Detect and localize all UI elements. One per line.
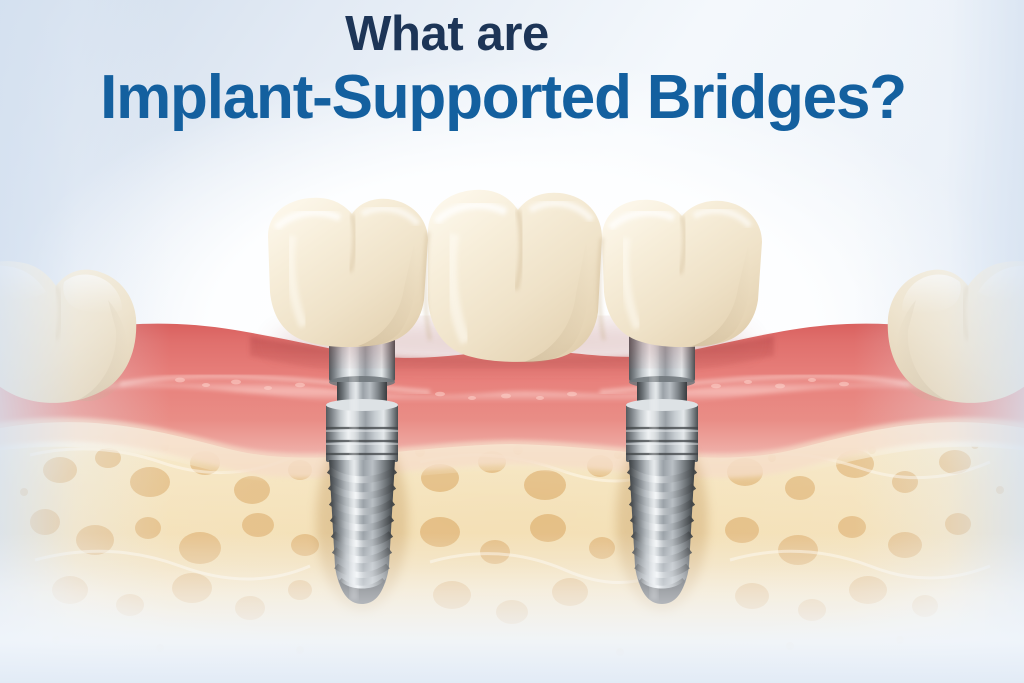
dental-bridge	[0, 0, 1024, 683]
dental-illustration	[0, 0, 1024, 683]
crown-center-pontic	[428, 190, 602, 363]
crown-left-retainer	[268, 198, 428, 347]
crown-right-retainer	[602, 200, 762, 347]
infographic-canvas: What are Implant-Supported Bridges?	[0, 0, 1024, 683]
